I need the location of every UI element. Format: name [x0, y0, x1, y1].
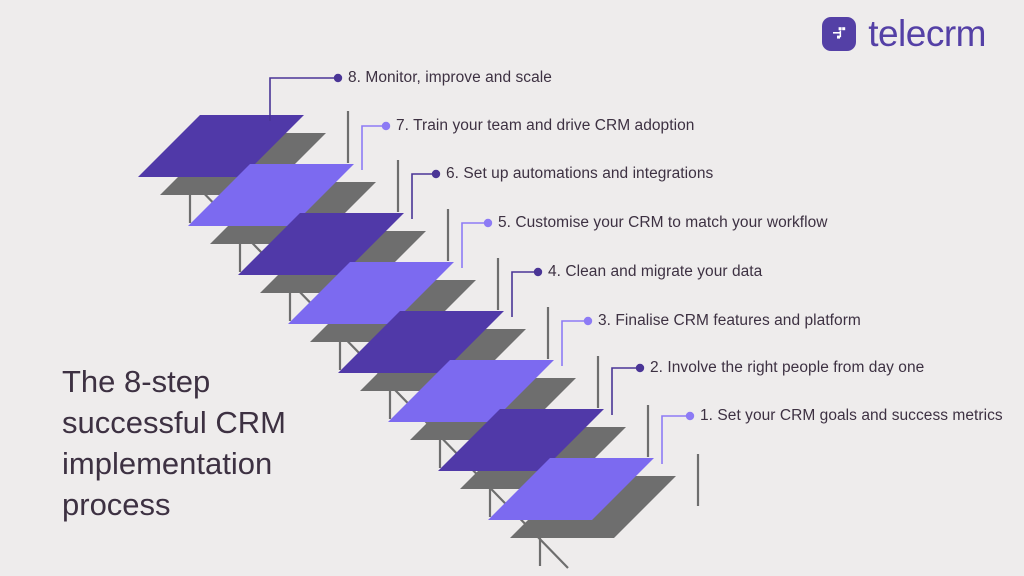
connector-dot-7 [382, 122, 390, 130]
connector-dot-1 [686, 412, 694, 420]
step-label-7: 7. Train your team and drive CRM adoptio… [396, 117, 694, 135]
step-label-3: 3. Finalise CRM features and platform [598, 312, 861, 330]
connector-line-8 [270, 78, 338, 121]
connector-line-2 [612, 368, 640, 415]
connector-dot-6 [432, 170, 440, 178]
brand-logo: telecrm [822, 15, 986, 52]
connector-line-4 [512, 272, 538, 317]
connector-dot-4 [534, 268, 542, 276]
page-title: The 8-step successful CRM implementation… [62, 362, 362, 526]
step-label-2: 2. Involve the right people from day one [650, 359, 924, 377]
connector-dot-2 [636, 364, 644, 372]
telecrm-flow-icon [822, 17, 856, 51]
step-label-5: 5. Customise your CRM to match your work… [498, 214, 828, 232]
connector-dot-3 [584, 317, 592, 325]
connector-line-3 [562, 321, 588, 366]
connector-line-6 [412, 174, 436, 219]
step-label-8: 8. Monitor, improve and scale [348, 69, 552, 87]
connector-line-5 [462, 223, 488, 268]
connector-line-1 [662, 416, 690, 464]
connector-dot-8 [334, 74, 342, 82]
infographic-canvas: 8. Monitor, improve and scale7. Train yo… [0, 0, 1024, 576]
connector-dot-5 [484, 219, 492, 227]
step-label-4: 4. Clean and migrate your data [548, 263, 762, 281]
step-label-1: 1. Set your CRM goals and success metric… [700, 407, 1003, 425]
brand-name: telecrm [868, 15, 986, 52]
step-label-6: 6. Set up automations and integrations [446, 165, 713, 183]
connector-line-7 [362, 126, 386, 170]
